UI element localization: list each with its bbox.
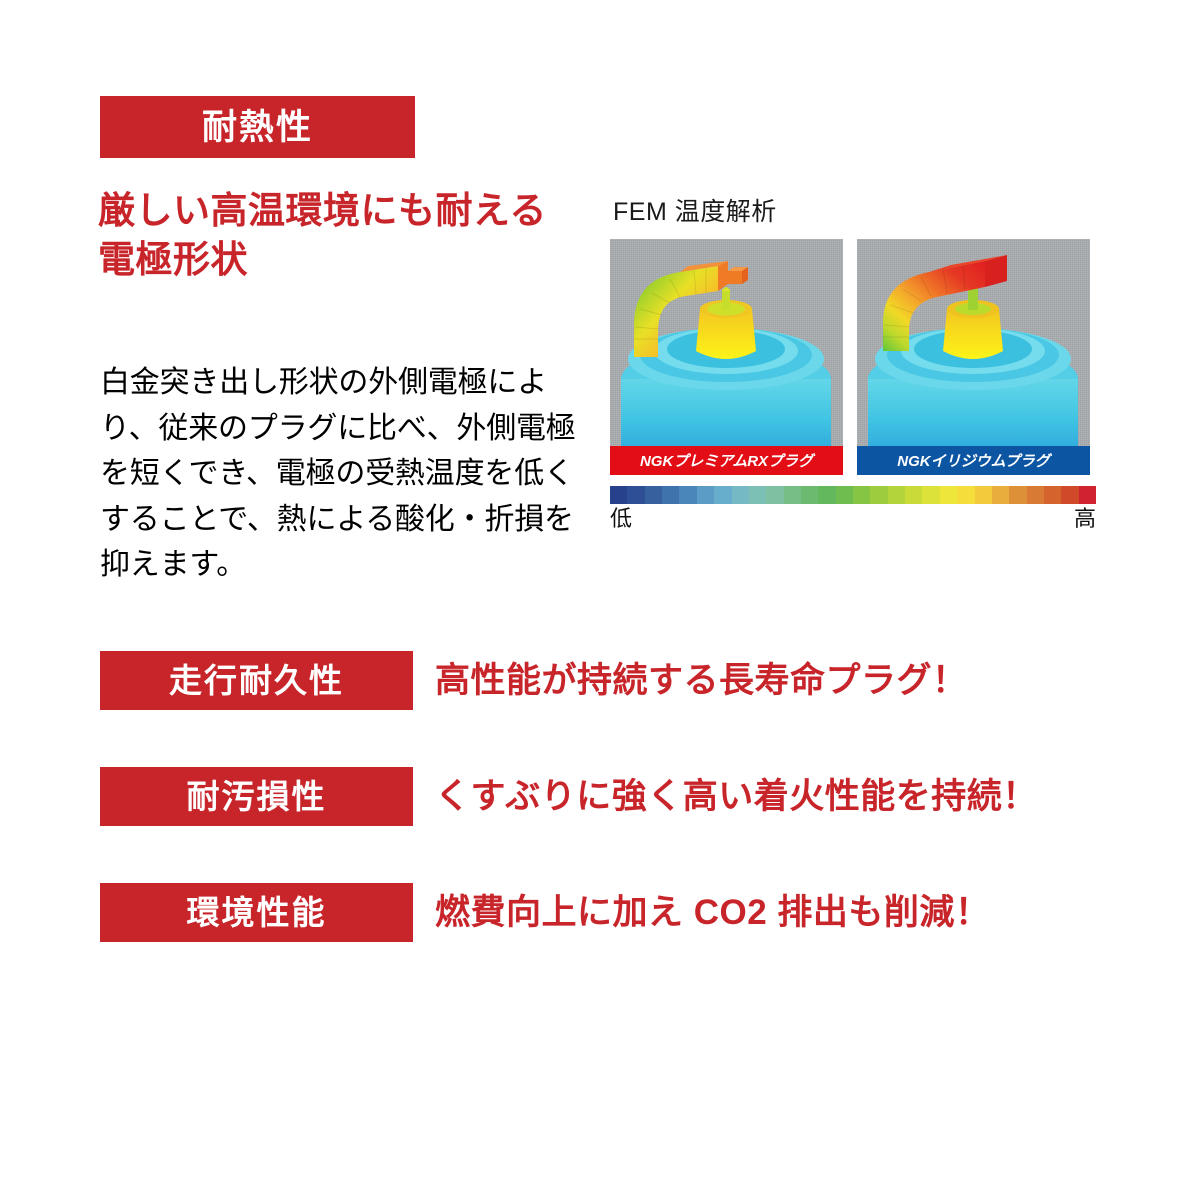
feature-row-environmental: 環境性能 燃費向上に加え CO2 排出も削減！ (100, 883, 1100, 942)
fem-scale-swatch-20 (957, 486, 974, 504)
fem-scale-swatch-6 (714, 486, 731, 504)
feature-text-durability: 高性能が持続する長寿命プラグ！ (435, 663, 968, 698)
feature-row-fouling-resistance: 耐汚損性 くすぶりに強く高い着火性能を持続！ (100, 767, 1100, 826)
fem-scale-swatch-0 (610, 486, 627, 504)
fem-scale-swatch-9 (766, 486, 783, 504)
fem-card-iridium: NGKイリジウムプラグ (857, 239, 1090, 475)
fem-scale-swatch-13 (836, 486, 853, 504)
spark-plug-thermal-render-iridium (857, 239, 1090, 446)
headline-line-1: 厳しい高温環境にも耐える (98, 186, 598, 235)
fem-scale-swatch-4 (679, 486, 696, 504)
fem-scale-swatch-7 (732, 486, 749, 504)
fem-scale-swatch-23 (1009, 486, 1026, 504)
feature-badge-environmental: 環境性能 (100, 883, 413, 942)
fem-scale-swatch-8 (749, 486, 766, 504)
fem-analysis-panel: FEM 温度解析 (610, 200, 1096, 531)
fem-scale-high-label: 高 (1074, 507, 1096, 531)
feature-badge-label: 走行耐久性 (169, 664, 344, 697)
fem-card-premium-rx: NGKプレミアムRXプラグ (610, 239, 843, 475)
feature-badge-label: 耐汚損性 (187, 780, 327, 813)
fem-scale-labels: 低 高 (610, 507, 1096, 531)
fem-scale-swatch-11 (801, 486, 818, 504)
fem-scale-swatch-5 (697, 486, 714, 504)
feature-list: 走行耐久性 高性能が持続する長寿命プラグ！ 耐汚損性 くすぶりに強く高い着火性能… (100, 651, 1100, 942)
fem-scale-swatch-18 (922, 486, 939, 504)
fem-thermal-image-premium-rx (610, 239, 843, 446)
feature-badge-fouling-resistance: 耐汚損性 (100, 767, 413, 826)
fem-scale-swatch-2 (645, 486, 662, 504)
feature-text-environmental: 燃費向上に加え CO2 排出も削減！ (435, 895, 990, 930)
fem-caption-iridium: NGKイリジウムプラグ (857, 446, 1090, 475)
feature-badge-durability: 走行耐久性 (100, 651, 413, 710)
fem-scale-low-label: 低 (610, 507, 632, 531)
fem-caption-premium-rx: NGKプレミアムRXプラグ (610, 446, 843, 475)
fem-scale-swatch-16 (888, 486, 905, 504)
feature-badge-label: 環境性能 (187, 896, 327, 929)
fem-temperature-color-scale (610, 486, 1096, 504)
heat-resistance-badge: 耐熱性 (100, 96, 415, 158)
headline-line-2: 電極形状 (98, 235, 598, 284)
fem-scale-swatch-26 (1061, 486, 1078, 504)
fem-analysis-title: FEM 温度解析 (613, 200, 1096, 225)
fem-scale-swatch-27 (1079, 486, 1096, 504)
fem-scale-swatch-22 (992, 486, 1009, 504)
spark-plug-thermal-render-rx (610, 239, 843, 446)
fem-scale-swatch-3 (662, 486, 679, 504)
fem-image-pair: NGKプレミアムRXプラグ (610, 239, 1096, 475)
fem-scale-swatch-17 (905, 486, 922, 504)
fem-scale-swatch-10 (784, 486, 801, 504)
fem-thermal-image-iridium (857, 239, 1090, 446)
fem-scale-swatch-14 (853, 486, 870, 504)
heat-resistance-badge-label: 耐熱性 (202, 110, 313, 145)
fem-scale-swatch-25 (1044, 486, 1061, 504)
fem-scale-swatch-1 (627, 486, 644, 504)
heat-resistance-headline: 厳しい高温環境にも耐える 電極形状 (98, 186, 598, 284)
fem-scale-swatch-24 (1027, 486, 1044, 504)
fem-scale-swatch-15 (870, 486, 887, 504)
heat-resistance-description: 白金突き出し形状の外側電極により、従来のプラグに比べ、外側電極を短くでき、電極の… (100, 360, 590, 588)
feature-row-durability: 走行耐久性 高性能が持続する長寿命プラグ！ (100, 651, 1100, 710)
fem-scale-swatch-19 (940, 486, 957, 504)
fem-scale-swatch-12 (818, 486, 835, 504)
feature-text-fouling-resistance: くすぶりに強く高い着火性能を持続！ (435, 779, 1038, 814)
fem-scale-swatch-21 (975, 486, 992, 504)
